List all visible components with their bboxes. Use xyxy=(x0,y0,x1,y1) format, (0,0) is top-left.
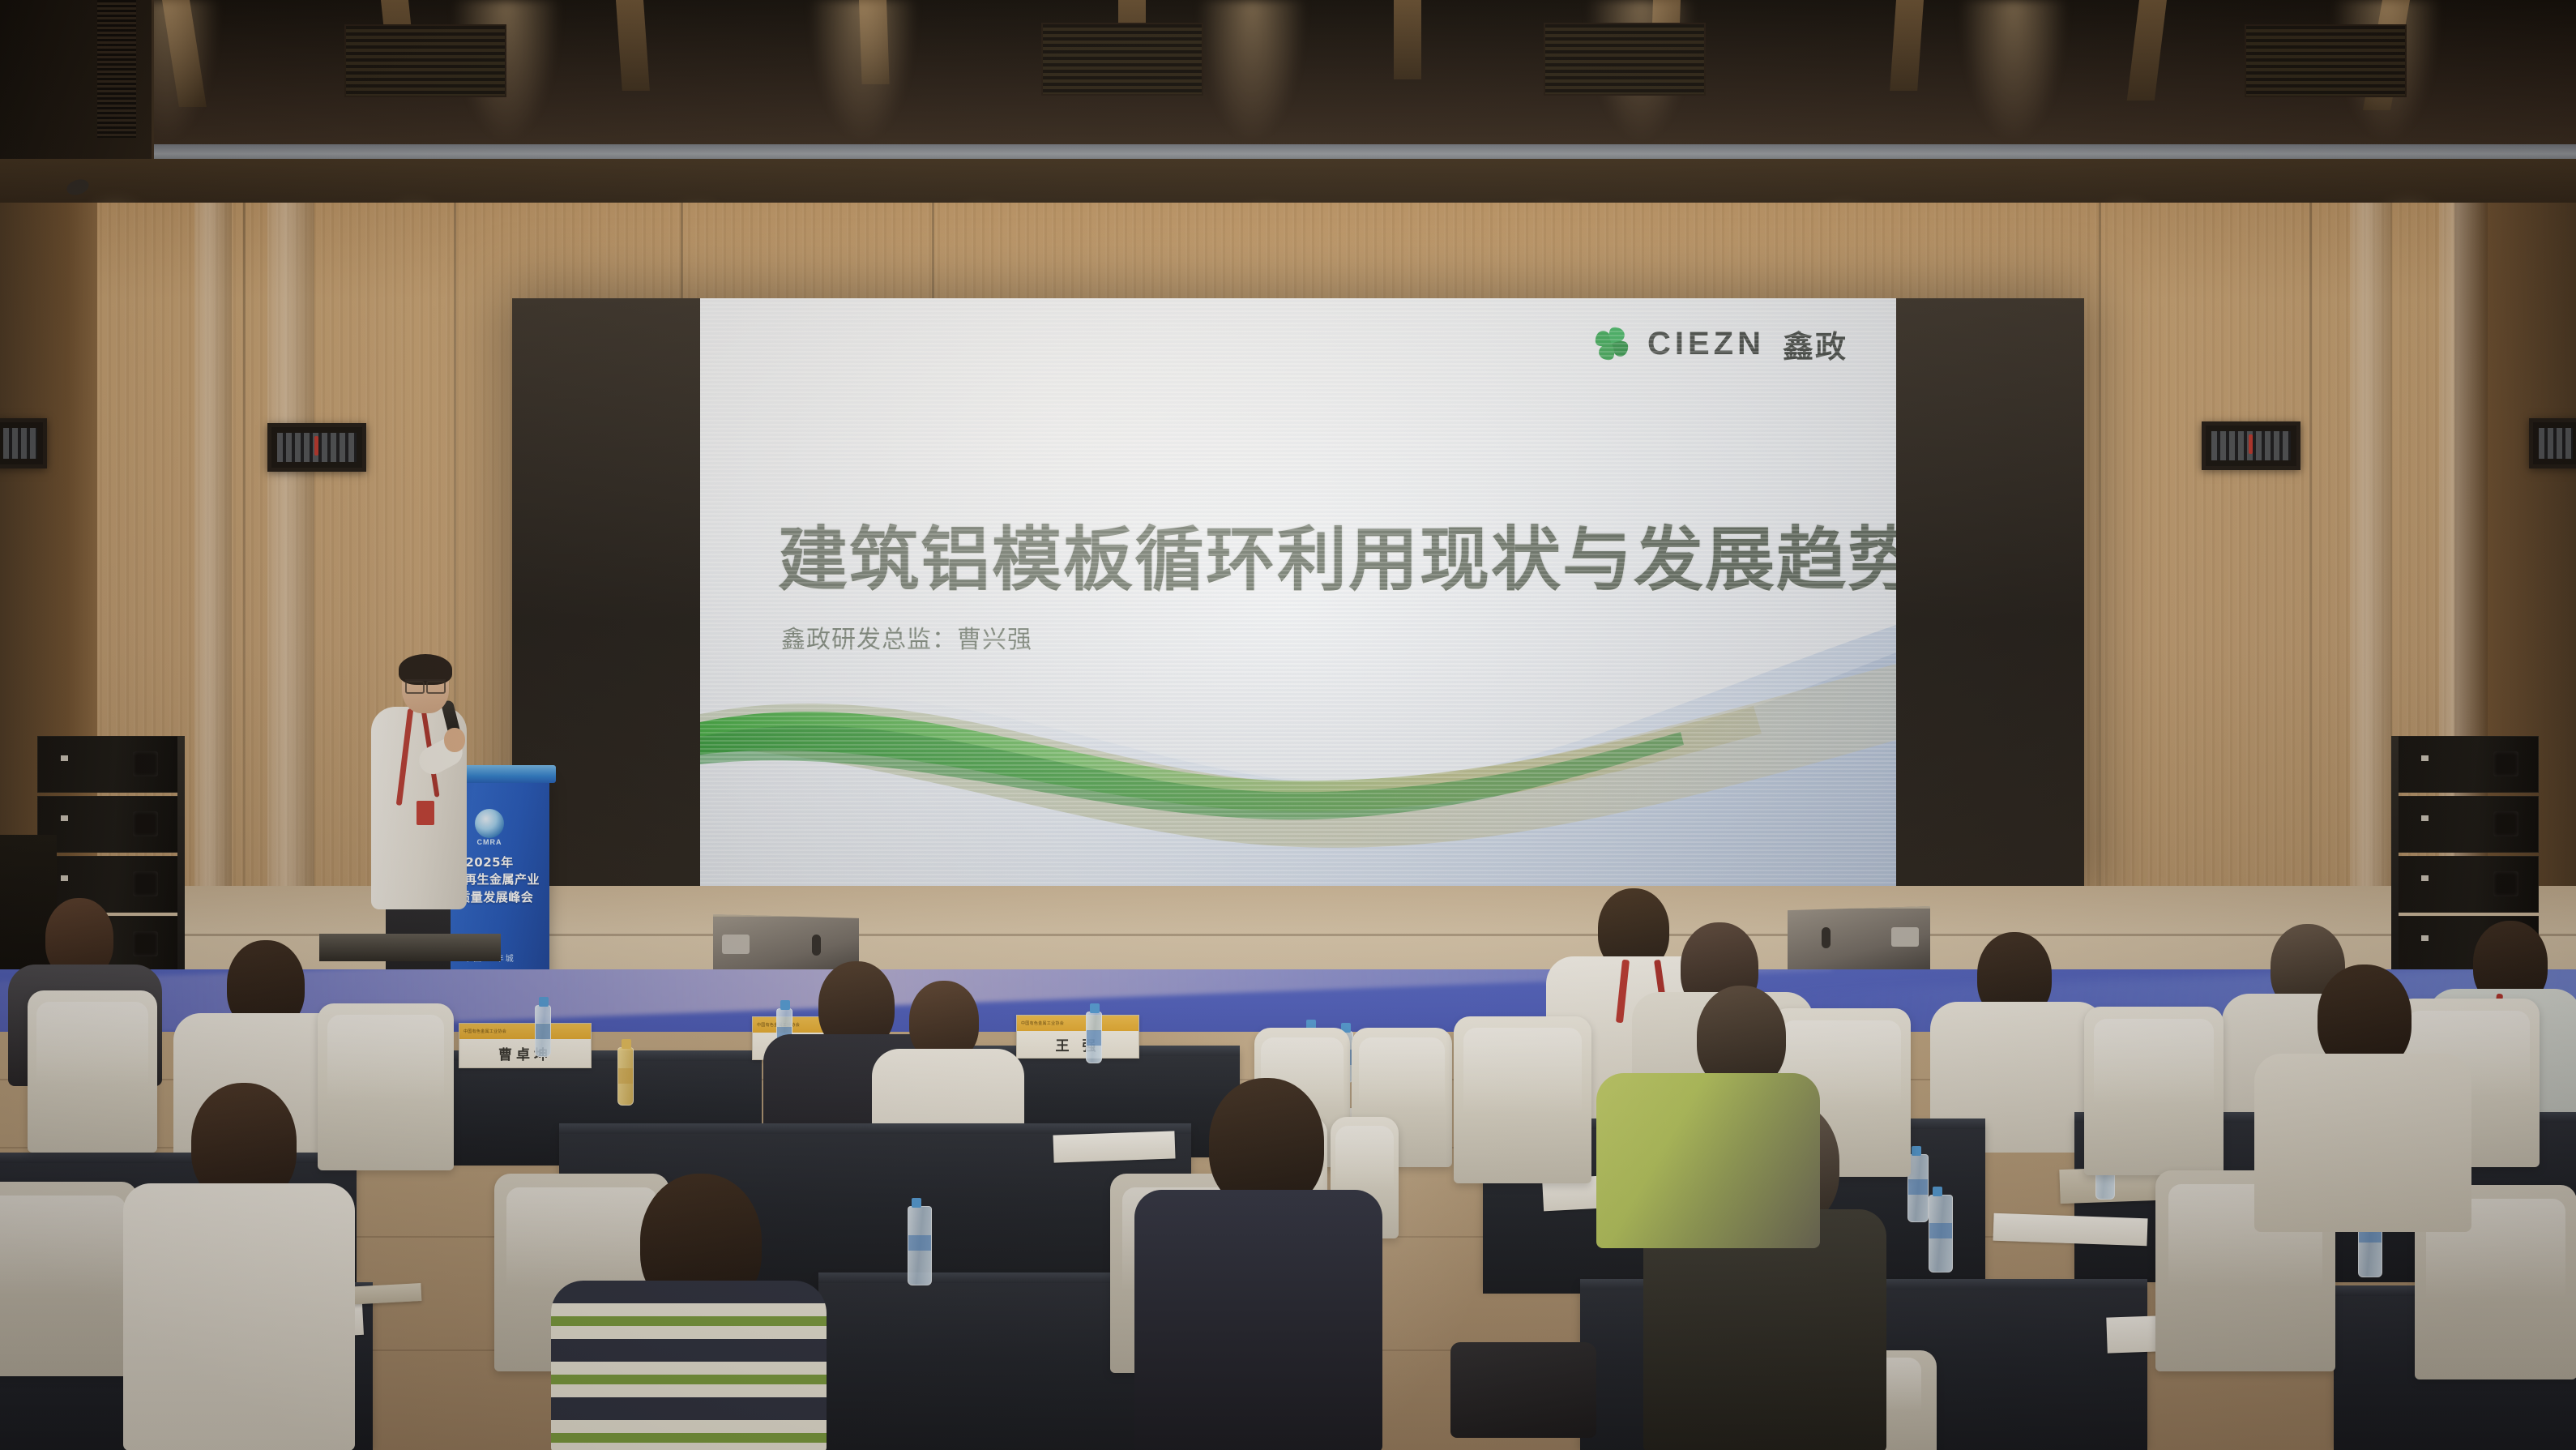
chair xyxy=(28,990,157,1153)
name-placard: 中国有色金属工业协会 王 强 xyxy=(1016,1015,1139,1059)
slide-logo-latin: CIEZN xyxy=(1647,326,1765,362)
slide-subtitle: 鑫政研发总监：曹兴强 xyxy=(781,619,1032,655)
water-bottle xyxy=(908,1206,932,1285)
slide-surface: CIEZN 鑫政 建筑铝模板循环利用现状与发展趋势 鑫政研发总监：曹兴强 xyxy=(700,298,1896,886)
ceiling-grille-icon xyxy=(97,0,136,138)
chair xyxy=(1454,1016,1591,1183)
chair xyxy=(2084,1007,2224,1175)
cmra-logo-icon xyxy=(475,809,504,838)
ceiling-vent-panel xyxy=(2245,24,2407,97)
attendee-torso xyxy=(123,1183,355,1450)
ceiling-vent-panel xyxy=(344,24,506,97)
eyeglasses-icon xyxy=(405,679,446,690)
ciezn-pinwheel-icon xyxy=(1589,321,1634,366)
attendee-torso-striped-polo xyxy=(551,1281,827,1450)
water-bottle xyxy=(1929,1195,1953,1272)
water-bottle xyxy=(1086,1012,1102,1063)
chair xyxy=(318,1003,454,1170)
attendee-torso-green-vest xyxy=(1596,1073,1820,1248)
ceiling-vent-panel xyxy=(1041,23,1203,96)
chair xyxy=(0,1182,138,1376)
presenter-badge xyxy=(417,801,434,825)
stage-monitor-wedge xyxy=(1788,906,1930,976)
slide-logo: CIEZN 鑫政 xyxy=(1589,321,1848,366)
attendee-torso xyxy=(2254,1054,2471,1232)
wall-speaker-grille xyxy=(2529,418,2576,468)
stage-riser xyxy=(319,934,501,961)
slide-title: 建筑铝模板循环利用现状与发展趋势 xyxy=(778,503,1856,604)
conference-hall-photo: CIEZN 鑫政 建筑铝模板循环利用现状与发展趋势 鑫政研发总监：曹兴强 CMR… xyxy=(0,0,2576,1450)
slide-logo-chinese: 鑫政 xyxy=(1783,322,1848,366)
wall-speaker-grille xyxy=(267,423,366,472)
document xyxy=(1993,1213,2147,1247)
document xyxy=(1053,1131,1175,1162)
ceiling-vent-panel xyxy=(1544,23,1706,96)
beverage-bottle xyxy=(617,1047,634,1106)
attendee-torso xyxy=(1134,1190,1382,1450)
led-presentation-screen: CIEZN 鑫政 建筑铝模板循环利用现状与发展趋势 鑫政研发总监：曹兴强 xyxy=(512,298,2084,886)
wall-speaker-grille xyxy=(0,418,47,468)
screen-bezel-right xyxy=(1896,298,2084,886)
wall-speaker-grille xyxy=(2202,421,2300,470)
bag xyxy=(1450,1342,1596,1438)
name-placard: 中国有色金属工业协会 曹卓坤 xyxy=(459,1023,592,1068)
cmra-logo-label: CMRA xyxy=(477,838,502,846)
water-bottle xyxy=(535,1005,551,1057)
